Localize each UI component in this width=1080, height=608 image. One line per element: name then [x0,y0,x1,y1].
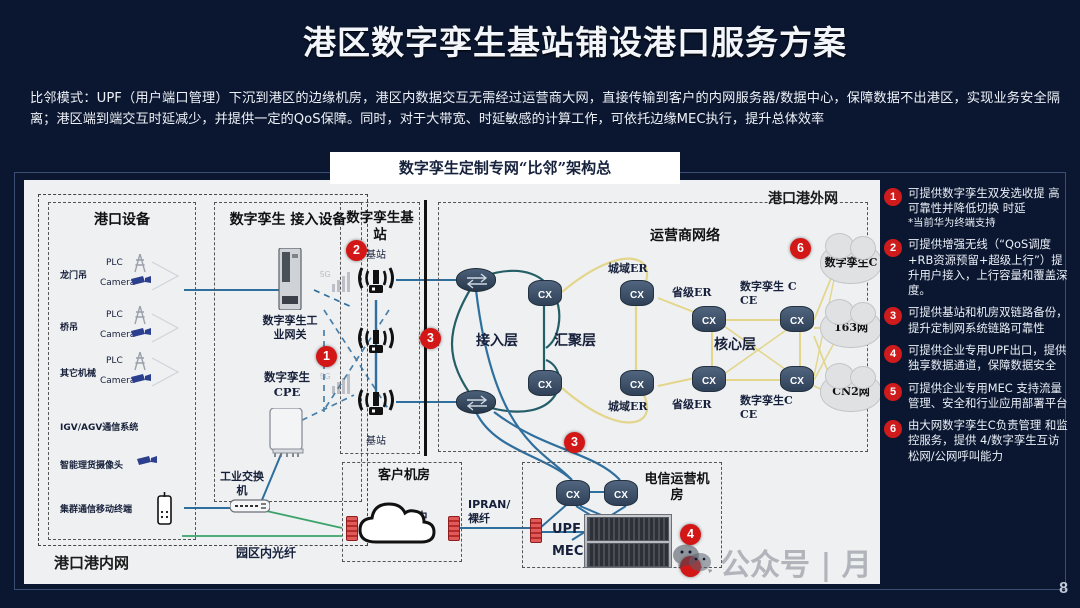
zone-label-inner-net: 港口港内网 [54,552,129,573]
signal-5g-icon-bottom: 5G [320,370,354,396]
group-customer-room-title: 客户机房 [354,468,454,484]
base-station-bottom-label: 基站 [366,432,386,447]
annotation-item-3: 3 可提供基站和机房双链路备份，提升定制网系统链路可靠性 [884,305,1070,336]
gateway-label: 数字孪生工业网关 [260,314,320,343]
metro-er-router-bottom: CX [620,370,654,396]
cloud-163: 163网 [820,308,880,348]
firewall-telecom [530,518,542,543]
badge-5: 5 [680,556,701,577]
metro-er-router-top: CX [620,280,654,306]
annotation-item-5: 5 可提供企业专用MEC 支持流量管理、安全和行业应用部署平台 [884,381,1070,412]
annotation-num-4: 4 [884,345,902,363]
province-er-router-bottom: CX [692,366,726,392]
province-er-router-top: CX [692,306,726,332]
province-er-label-top: 省级ER [672,284,712,300]
igv-agv-label: IGV/AGV通信系统 [60,420,138,433]
cpe-label: 数字孪生 CPE [256,370,318,400]
group-port-equipment-title: 港口设备 [48,212,196,230]
annotation-body-1: 可提供数字孪生双发选收提 高可靠性并降低切换 时延 *当前华为终端支持 [908,186,1070,230]
badge-2: 2 [346,240,367,261]
badge-1: 1 [316,346,337,367]
annotation-list: 1 可提供数字孪生双发选收提 高可靠性并降低切换 时延 *当前华为终端支持 2 … [884,186,1070,471]
annotation-subtext-1: *当前华为终端支持 [908,217,1070,231]
dt-c-ce-label-top: 数字孪生 C CE [740,280,804,308]
page-subtitle: 比邻模式：UPF（用户端口管理）下沉到港区的边缘机房，港区内数据交互无需经过运营… [30,88,1060,131]
layer-aggregation-label: 汇聚层 [554,330,596,350]
cpe-icon [264,408,308,458]
plc-icon-1 [132,304,148,326]
annotation-text-3: 可提供基站和机房双链路备份，提升定制网系统链路可靠性 [908,305,1070,336]
base-station-icon-2 [356,322,396,356]
aggregation-router-top: CX [528,280,562,306]
layer-access-label: 接入层 [476,330,518,350]
mobile-terminal-label: 集群通信移动终端 [60,502,132,515]
annotation-num-6: 6 [884,420,902,438]
architecture-diagram: 港口港内网 港口设备 龙门吊 PLC Camera 桥吊 PLC Camera … [24,180,880,584]
annotation-num-5: 5 [884,383,902,401]
smart-camera-icon [136,454,158,468]
annotation-text-2: 可提供增强无线（“QoS调度+RB资源预留+超级上行”）提升用户接入，上行容量和… [908,237,1070,298]
equipment-row-1-plc: PLC [106,310,123,320]
cloud-cn2: CN2网 [820,372,880,412]
annotation-text-5: 可提供企业专用MEC 支持流量管理、安全和行业应用部署平台 [908,381,1070,412]
equipment-row-2-name: 其它机械 [60,366,96,379]
upf-label: UPF [552,522,581,537]
equipment-row-0-name: 龙门吊 [60,268,87,281]
camera-icon-0 [130,274,152,288]
group-dt-access-device-title: 数字孪生 接入设备 [220,212,356,230]
plc-icon-0 [132,252,148,274]
equipment-fan-lines [152,258,188,388]
mobile-terminal-icon [156,492,174,526]
annotation-item-1: 1 可提供数字孪生双发选收提 高可靠性并降低切换 时延 *当前华为终端支持 [884,186,1070,230]
annotation-item-2: 2 可提供增强无线（“QoS调度+RB资源预留+超级上行”）提升用户接入，上行容… [884,237,1070,298]
badge-3-upper: 3 [420,328,441,349]
annotation-num-2: 2 [884,239,902,257]
badge-6: 6 [790,238,811,259]
firewall-customer-left [346,516,358,541]
base-station-icon-1 [356,262,396,296]
industrial-switch-icon [230,498,270,514]
signal-5g-icon-top: 5G [320,268,354,294]
carrier-network-title: 运营商网络 [620,228,750,246]
badge-3-lower: 3 [564,432,585,453]
campus-fiber-label: 园区内光纤 [236,544,296,561]
equipment-row-0-plc: PLC [106,258,123,268]
ipran-link-label: IPRAN/裸纤 [468,498,514,527]
annotation-text-4: 可提供企业专用UPF出口，提供独享数据通道，保障数据安全 [908,343,1070,374]
group-dt-base-station-title: 数字孪生基站 [340,210,420,244]
access-router-bottom [456,390,496,414]
metro-er-label-top: 城域ER [608,260,648,276]
svg-text:5G: 5G [320,270,331,279]
dt-c-ce-router-top: CX [780,306,814,332]
province-er-label-bottom: 省级ER [672,396,712,412]
firewall-customer-right [448,516,460,541]
telecom-router-right: CX [604,480,638,506]
camera-icon-1 [130,326,152,340]
annotation-text-6: 由大网数字孪生C负责管理 和监控服务，提供 4/数字孪生互访 松网/公网呼叫能力 [908,418,1070,464]
campus-datacenter-cloud-icon [354,496,450,552]
aggregation-router-bottom: CX [528,370,562,396]
zone-label-outer-net: 港口港外网 [768,188,838,208]
smart-tally-camera-label: 智能理货摄像头 [60,458,123,471]
industrial-gateway-icon [276,248,304,310]
telecom-router-left: CX [556,480,590,506]
annotation-text-1: 可提供数字孪生双发选收提 高可靠性并降低切换 时延 [908,186,1070,217]
equipment-row-2-plc: PLC [106,356,123,366]
base-station-top-label: 基站 [366,246,386,261]
base-station-icon-3 [356,384,396,418]
group-telecom-room-title: 电信运营机房 [642,472,712,505]
camera-icon-2 [130,372,152,386]
plc-icon-2 [132,350,148,372]
svg-text:5G: 5G [320,372,331,381]
architecture-banner-title: 数字孪生定制专网“比邻”架构总 [330,152,680,184]
mec-label: MEC [552,544,583,559]
dt-c-ce-router-bottom: CX [780,366,814,392]
annotation-num-1: 1 [884,188,902,206]
industrial-switch-label: 工业交换机 [220,470,264,499]
cloud-dt-c: 数字孪生C [820,242,880,284]
metro-er-label-bottom: 城域ER [608,398,648,414]
upf-mec-server-stack [584,514,672,568]
dt-c-ce-label-bottom: 数字孪生C CE [740,394,804,422]
page-number: 8 [1059,580,1068,598]
access-router-top [456,268,496,292]
layer-core-label: 核心层 [714,334,756,354]
annotation-item-6: 6 由大网数字孪生C负责管理 和监控服务，提供 4/数字孪生互访 松网/公网呼叫… [884,418,1070,464]
annotation-num-3: 3 [884,307,902,325]
badge-4: 4 [680,524,701,545]
page-title: 港区数字孪生基站铺设港口服务方案 [255,22,895,64]
annotation-item-4: 4 可提供企业专用UPF出口，提供独享数据通道，保障数据安全 [884,343,1070,374]
equipment-row-1-name: 桥吊 [60,320,78,333]
